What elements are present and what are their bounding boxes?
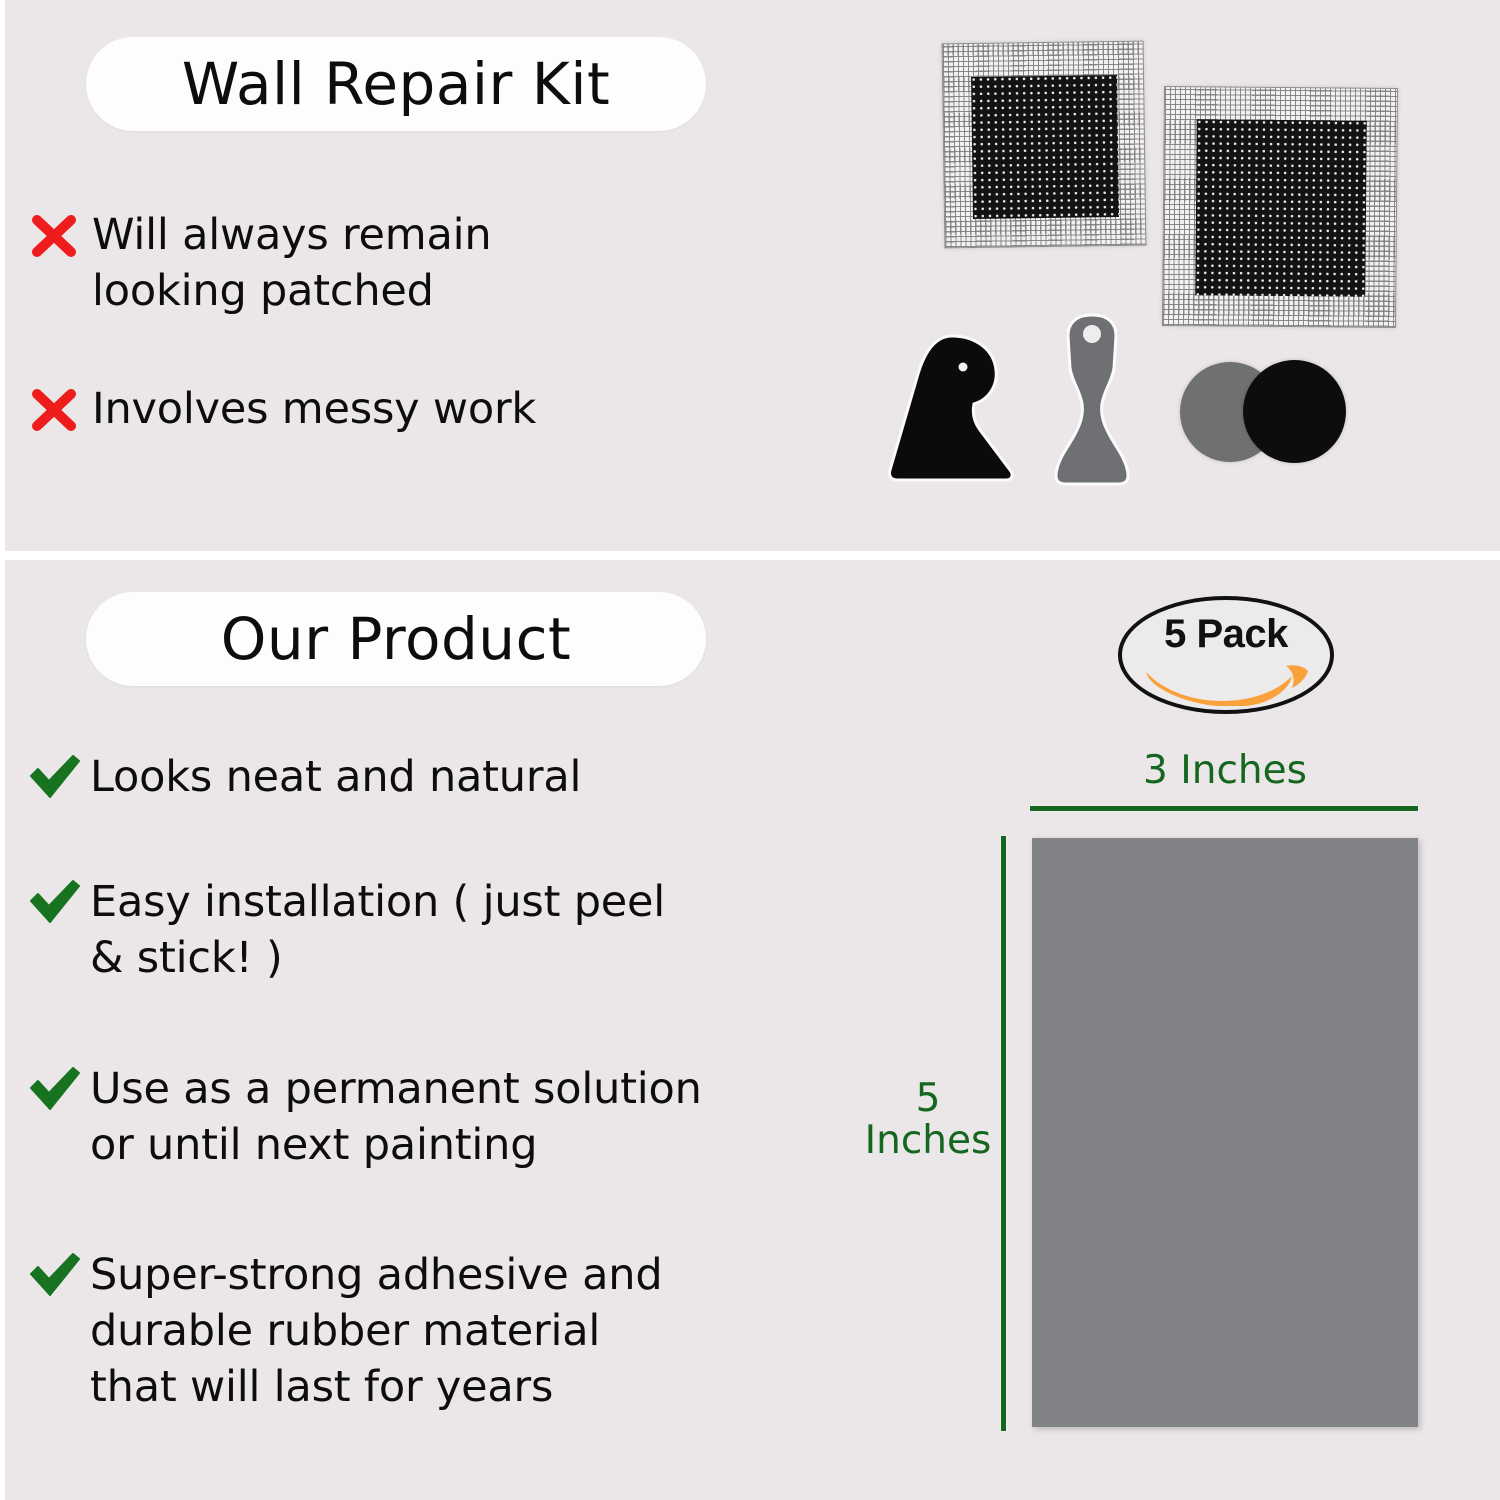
check-icon bbox=[28, 750, 90, 802]
mesh-patch-core bbox=[1195, 119, 1367, 296]
pack-badge: 5 Pack bbox=[1118, 596, 1334, 714]
check-icon bbox=[28, 1248, 90, 1300]
putty-knife-icon bbox=[1046, 312, 1138, 487]
dimension-width-line bbox=[1030, 806, 1418, 811]
product-bullet-text: Looks neat and natural bbox=[90, 750, 581, 806]
mesh-patch-icon bbox=[1162, 86, 1398, 328]
product-title-pill: Our Product bbox=[86, 592, 706, 686]
infographic-page: Wall Repair Kit Will always remain looki… bbox=[0, 0, 1500, 1500]
problem-bullet-0: Will always remain looking patched bbox=[30, 208, 730, 320]
product-bullet-text: Easy installation ( just peel & stick! ) bbox=[90, 875, 665, 987]
section-title: Our Product bbox=[221, 605, 571, 673]
check-icon bbox=[28, 1062, 90, 1114]
problem-bullet-text: Will always remain looking patched bbox=[92, 208, 491, 320]
cross-icon bbox=[30, 382, 92, 434]
problem-bullet-text: Involves messy work bbox=[92, 382, 536, 438]
problem-bullet-1: Involves messy work bbox=[30, 382, 730, 438]
pack-badge-label: 5 Pack bbox=[1118, 612, 1334, 657]
dimension-width-label: 3 Inches bbox=[1030, 748, 1420, 793]
cross-icon bbox=[30, 208, 92, 260]
page-title: Wall Repair Kit bbox=[182, 50, 610, 118]
mesh-patch-core bbox=[971, 75, 1119, 219]
product-bullet-0: Looks neat and natural bbox=[28, 750, 868, 806]
problem-title-pill: Wall Repair Kit bbox=[86, 37, 706, 131]
check-icon bbox=[28, 875, 90, 927]
product-bullet-3: Super-strong adhesive and durable rubber… bbox=[28, 1248, 868, 1416]
product-bullet-text: Use as a permanent solution or until nex… bbox=[90, 1062, 702, 1174]
amazon-smile-icon bbox=[1140, 662, 1312, 706]
product-bullet-text: Super-strong adhesive and durable rubber… bbox=[90, 1248, 662, 1416]
product-bullet-1: Easy installation ( just peel & stick! ) bbox=[28, 875, 868, 987]
dimension-height-label: 5 Inches bbox=[862, 1078, 994, 1162]
dimension-height-line bbox=[1001, 836, 1006, 1431]
product-swatch bbox=[1032, 838, 1418, 1427]
round-patch-icon bbox=[1243, 360, 1346, 463]
trowel-icon bbox=[884, 330, 1024, 482]
product-bullet-2: Use as a permanent solution or until nex… bbox=[28, 1062, 868, 1174]
mesh-patch-icon bbox=[942, 41, 1147, 249]
